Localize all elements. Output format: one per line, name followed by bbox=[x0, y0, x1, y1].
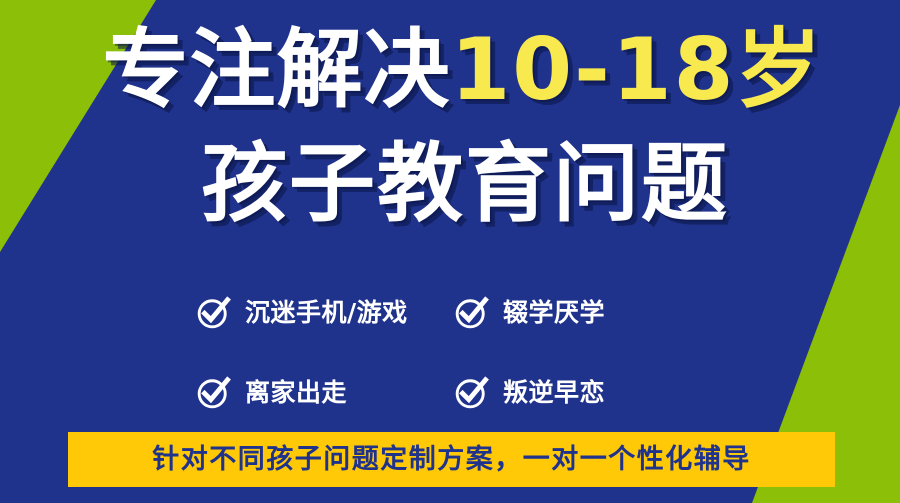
feature-label: 辍学厌学 bbox=[503, 300, 605, 325]
promo-banner: 专注解决10-18岁 孩子教育问题 沉迷手机/游戏 辍学厌学 离家出走 bbox=[0, 0, 900, 503]
headline-age-range: 10-18岁 bbox=[450, 20, 823, 120]
check-circle-icon bbox=[454, 294, 490, 330]
headline-line-2: 孩子教育问题 bbox=[0, 132, 900, 236]
headline-line-1: 专注解决10-18岁 bbox=[0, 14, 900, 126]
headline-block: 专注解决10-18岁 孩子教育问题 bbox=[0, 14, 900, 236]
check-circle-icon bbox=[196, 294, 232, 330]
feature-item: 离家出走 bbox=[196, 374, 454, 410]
feature-item: 叛逆早恋 bbox=[454, 374, 676, 410]
check-circle-icon bbox=[454, 374, 490, 410]
headline-line-1-primary: 专注解决 bbox=[102, 20, 450, 120]
feature-label: 沉迷手机/游戏 bbox=[245, 300, 408, 325]
footer-tagline: 针对不同孩子问题定制方案，一对一个性化辅导 bbox=[152, 446, 751, 473]
feature-item: 沉迷手机/游戏 bbox=[196, 294, 454, 330]
feature-item: 辍学厌学 bbox=[454, 294, 676, 330]
footer-banner-strip: 针对不同孩子问题定制方案，一对一个性化辅导 bbox=[68, 432, 835, 487]
feature-label: 离家出走 bbox=[245, 380, 347, 405]
check-circle-icon bbox=[196, 374, 232, 410]
feature-label: 叛逆早恋 bbox=[503, 380, 605, 405]
feature-list: 沉迷手机/游戏 辍学厌学 离家出走 叛逆早恋 bbox=[196, 272, 676, 432]
